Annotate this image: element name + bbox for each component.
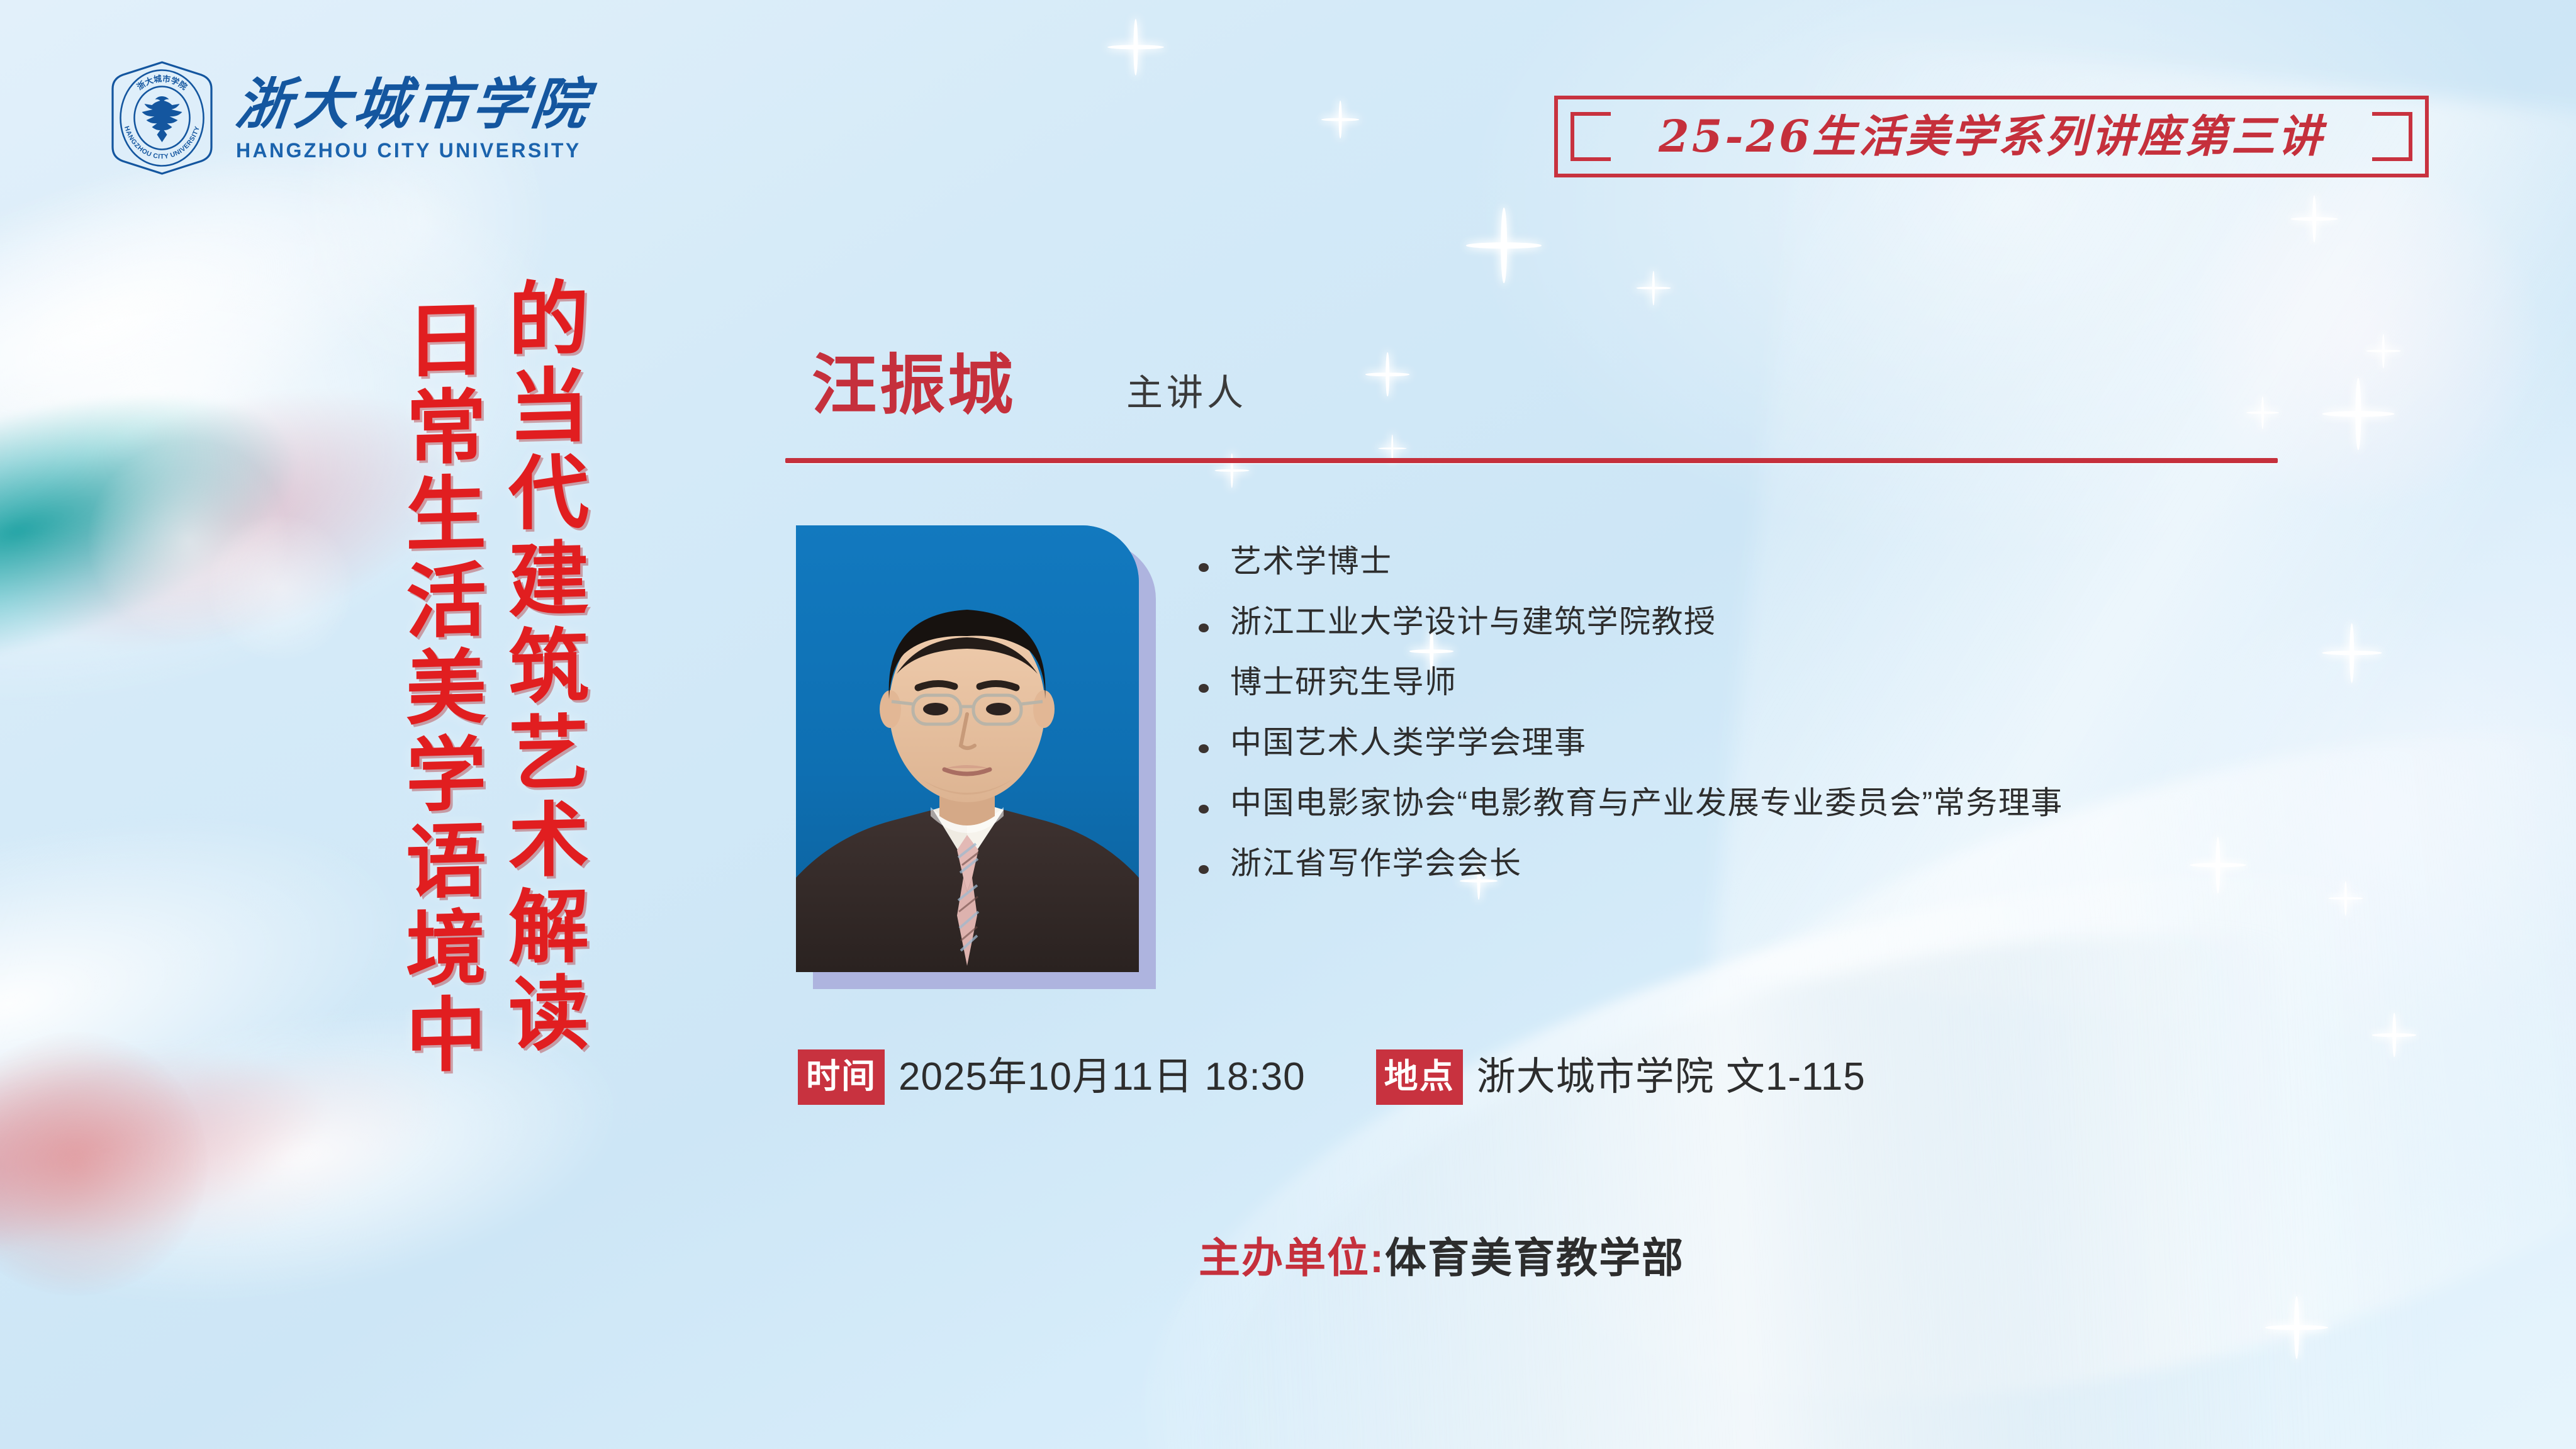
credential-text: 艺术学博士 [1230, 544, 1392, 579]
series-badge-text: 25-26生活美学系列讲座第三讲 [1554, 115, 2429, 159]
university-name-en: HANGZHOU CITY UNIVERSITY [236, 140, 591, 160]
place-value: 浙大城市学院 文1-115 [1477, 1058, 1866, 1097]
title-column-left: 日常生活美学语境中 [395, 276, 483, 1278]
credential-text: 浙江省写作学会会长 [1230, 846, 1522, 881]
list-item: 艺术学博士 [1199, 544, 2331, 579]
lecture-title: 的当代建筑艺术解读 日常生活美学语境中 [283, 277, 585, 1277]
credential-text: 浙江工业大学设计与建筑学院教授 [1230, 605, 1716, 639]
sparkle-icon [2265, 1296, 2328, 1359]
list-item: 浙江省写作学会会长 [1199, 846, 2331, 881]
event-info-row: 时间 2025年10月11日 18:30 地点 浙大城市学院 文1-115 [798, 1049, 1866, 1105]
time-value: 2025年10月11日 18:30 [899, 1058, 1306, 1097]
list-item: 中国艺术人类学学会理事 [1199, 725, 2331, 760]
list-item: 中国电影家协会“电影教育与产业发展专业委员会”常务理事 [1199, 786, 2331, 820]
sparkle-icon [1636, 271, 1671, 305]
svg-text:浙大城市学院: 浙大城市学院 [135, 74, 189, 92]
list-item: 博士研究生导师 [1199, 665, 2331, 700]
sparkle-icon [1365, 352, 1409, 396]
lecture-poster: 浙大城市学院 HANGZHOU CITY UNIVERSITY 浙大城市学院 H… [0, 0, 2576, 1449]
bullet-dot-icon [1199, 684, 1209, 693]
bullet-dot-icon [1199, 744, 1209, 753]
university-logo: 浙大城市学院 HANGZHOU CITY UNIVERSITY 浙大城市学院 H… [107, 60, 591, 176]
organizer-label: 主办单位: [1199, 1234, 1385, 1281]
speaker-credentials-list: 艺术学博士 浙江工业大学设计与建筑学院教授 博士研究生导师 中国艺术人类学学会理… [1199, 544, 2331, 907]
organizer-line: 主办单位:体育美育教学部 [1199, 1237, 1684, 1278]
section-divider [785, 458, 2278, 463]
sparkle-icon [1466, 208, 1542, 283]
credential-text: 中国艺术人类学学会理事 [1230, 725, 1587, 760]
credential-text: 博士研究生导师 [1230, 665, 1457, 700]
place-label-badge: 地点 [1376, 1049, 1463, 1105]
bullet-dot-icon [1199, 805, 1209, 814]
list-item: 浙江工业大学设计与建筑学院教授 [1199, 605, 2331, 639]
time-label-badge: 时间 [798, 1049, 885, 1105]
speaker-name: 汪振城 [812, 352, 1016, 418]
credential-text: 中国电影家协会“电影教育与产业发展专业委员会”常务理事 [1230, 786, 2063, 820]
bullet-dot-icon [1199, 865, 1209, 874]
sparkle-icon [1107, 19, 1164, 76]
speaker-role-label: 主讲人 [1126, 374, 1247, 411]
bokeh-circle [2186, 157, 2538, 510]
series-badge-frame: 25-26生活美学系列讲座第三讲 [1554, 96, 2429, 177]
speaker-portrait [796, 525, 1139, 972]
university-name: 浙大城市学院 HANGZHOU CITY UNIVERSITY [236, 76, 591, 160]
bullet-dot-icon [1199, 563, 1209, 572]
university-seal-icon: 浙大城市学院 HANGZHOU CITY UNIVERSITY [107, 60, 217, 176]
organizer-value: 体育美育教学部 [1385, 1234, 1684, 1281]
university-name-cn: 浙大城市学院 [233, 76, 593, 131]
title-column-right: 的当代建筑艺术解读 [497, 276, 585, 1278]
sparkle-icon [1321, 101, 1359, 138]
bullet-dot-icon [1199, 624, 1209, 632]
